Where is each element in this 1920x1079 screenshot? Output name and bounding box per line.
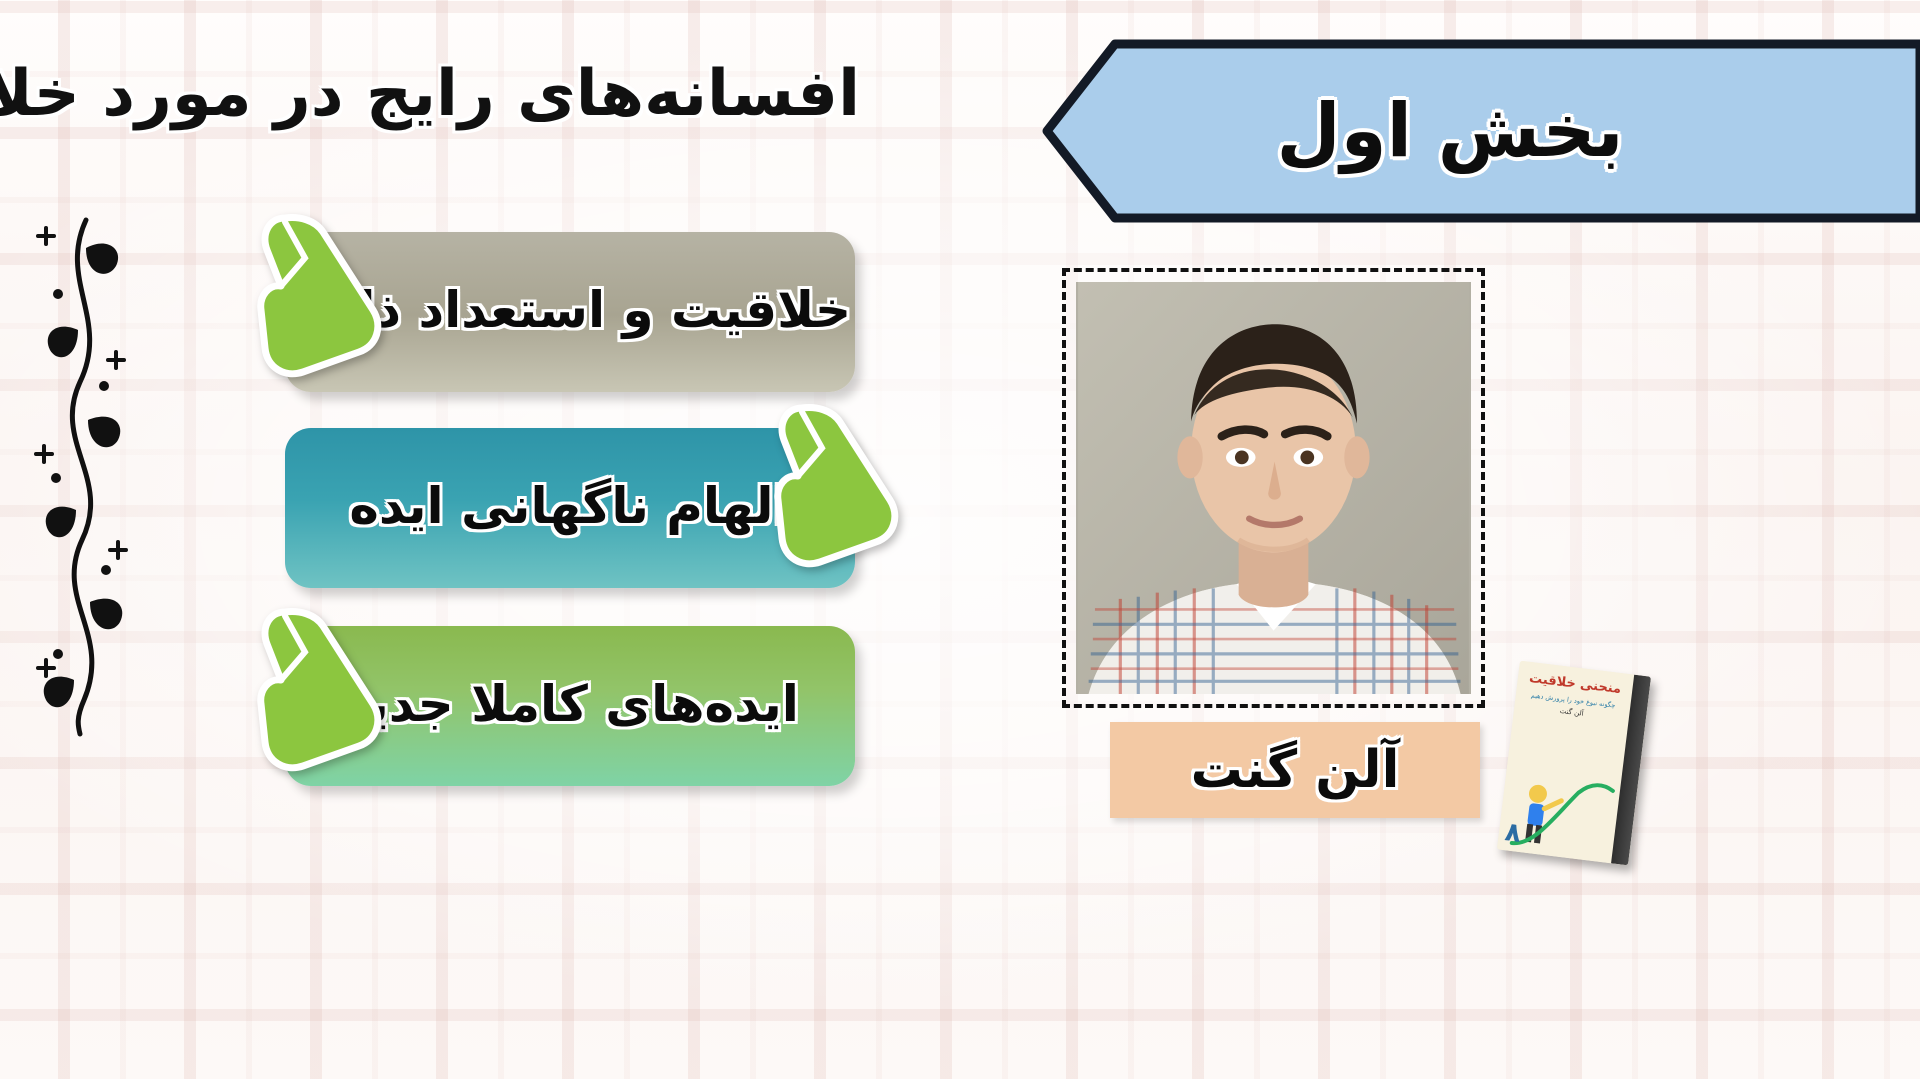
myth-row[interactable]: ایده‌های کاملا جدید [255,616,855,786]
myth-row[interactable]: خلاقیت و استعداد ذاتی [255,222,855,392]
vine-decoration-icon [28,210,143,740]
green-arrow-icon [251,606,383,774]
green-arrow-icon [251,212,383,380]
chapter-banner-label: بخش اول [1020,38,1920,224]
slide-canvas: افسانه‌های رایج در مورد خلاقیت بخش اول خ… [0,0,1920,1079]
author-name: آلن گنت [1191,740,1400,800]
book-cover-icon: منحنی خلاقیت چگونه نبوغ خود را پرورش دهی… [1497,661,1651,866]
chapter-banner: بخش اول [1020,38,1920,224]
myth-label: الهام ناگهانی ایده [349,477,790,539]
book-author-line: آلن گنت [1559,707,1584,718]
myth-row[interactable]: الهام ناگهانی ایده [255,418,855,588]
book-number: ۸ [1503,819,1522,847]
author-nameplate: آلن گنت [1110,722,1480,818]
page-title: افسانه‌های رایج در مورد خلاقیت [150,58,860,132]
myth-label: ایده‌های کاملا جدید [341,675,799,737]
portrait-photo-icon [1076,282,1471,694]
green-arrow-icon [768,402,900,570]
portrait-frame [1062,268,1485,708]
